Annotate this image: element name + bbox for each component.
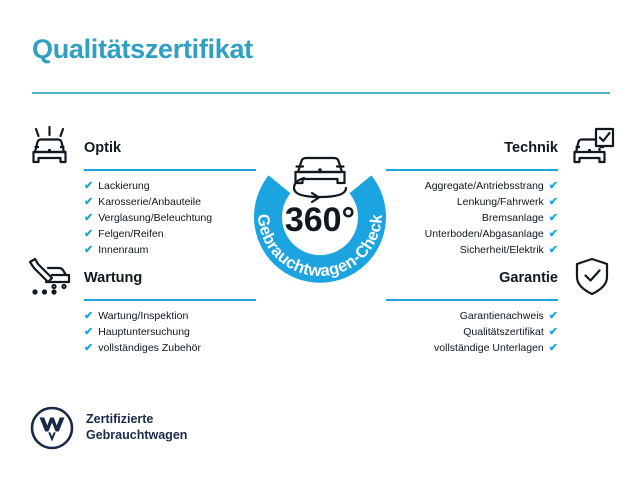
check-icon: ✔ [84, 327, 93, 338]
list-item-label: Hauptuntersuchung [98, 327, 190, 338]
badge-center-label: 360° [285, 201, 355, 239]
check-icon: ✔ [549, 213, 558, 224]
check-icon: ✔ [549, 197, 558, 208]
footer-brand: Zertifizierte Gebrauchtwagen [30, 406, 187, 450]
list-item-label: vollständige Unterlagen [434, 343, 544, 354]
list-item: ✔Felgen/Reifen [26, 226, 256, 242]
section-garantie-header: Garantie [386, 256, 616, 302]
check-icon: ✔ [84, 213, 93, 224]
section-optik-list: ✔Lackierung ✔Karosserie/Anbauteile ✔Verg… [26, 178, 256, 258]
list-item-label: Wartung/Inspektion [98, 311, 188, 322]
section-garantie-underline [386, 299, 558, 301]
list-item-label: Felgen/Reifen [98, 229, 163, 240]
section-wartung-title: Wartung [84, 270, 142, 286]
list-item: ✔vollständiges Zubehör [26, 340, 256, 356]
list-item: vollständige Unterlagen✔ [386, 340, 616, 356]
section-garantie-title: Garantie [499, 270, 558, 286]
section-technik-underline [386, 169, 558, 171]
section-technik-header: Technik [386, 126, 616, 172]
list-item: ✔Lackierung [26, 178, 256, 194]
list-item: ✔Verglasung/Beleuchtung [26, 210, 256, 226]
list-item: Bremsanlage✔ [386, 210, 616, 226]
section-optik-title: Optik [84, 140, 121, 156]
car-rotate-360-icon [294, 158, 346, 202]
section-garantie-list: Garantienachweis✔ Qualitätszertifikat✔ v… [386, 308, 616, 356]
section-wartung-list: ✔Wartung/Inspektion ✔Hauptuntersuchung ✔… [26, 308, 256, 356]
car-shine-icon [26, 126, 74, 170]
badge-360-gebrauchtwagen-check: Gebrauchtwagen-Check 360° [236, 130, 404, 298]
list-item-label: Verglasung/Beleuchtung [98, 213, 212, 224]
section-wartung: Wartung ✔Wartung/Inspektion ✔Hauptunters… [26, 256, 256, 356]
section-optik: Optik ✔Lackierung ✔Karosserie/Anbauteile… [26, 126, 256, 258]
volkswagen-logo [30, 406, 74, 450]
list-item: Qualitätszertifikat✔ [386, 324, 616, 340]
section-wartung-header: Wartung [26, 256, 256, 302]
check-icon: ✔ [549, 181, 558, 192]
footer-line-1: Zertifizierte [86, 412, 187, 428]
check-icon: ✔ [549, 229, 558, 240]
list-item: Unterboden/Abgasanlage✔ [386, 226, 616, 242]
section-garantie: Garantie Garantienachweis✔ Qualitätszert… [386, 256, 616, 356]
list-item-label: Qualitätszertifikat [463, 327, 544, 338]
list-item-label: Unterboden/Abgasanlage [425, 229, 544, 240]
footer-text: Zertifizierte Gebrauchtwagen [86, 412, 187, 443]
check-icon: ✔ [84, 343, 93, 354]
list-item-label: Aggregate/Antriebsstrang [425, 181, 544, 192]
list-item-label: Lackierung [98, 181, 149, 192]
page-title: Qualitätszertifikat [32, 34, 253, 65]
section-technik-title: Technik [504, 140, 558, 156]
certificate-page: Qualitätszertifikat [0, 0, 640, 480]
check-icon: ✔ [84, 197, 93, 208]
wrench-car-icon [26, 256, 74, 300]
list-item-label: Karosserie/Anbauteile [98, 197, 201, 208]
check-icon: ✔ [84, 229, 93, 240]
list-item: ✔Wartung/Inspektion [26, 308, 256, 324]
section-optik-underline [84, 169, 256, 171]
list-item-label: Lenkung/Fahrwerk [457, 197, 544, 208]
section-technik: Technik Aggregate/Antriebsstrang✔ Lenkun… [386, 126, 616, 258]
section-technik-list: Aggregate/Antriebsstrang✔ Lenkung/Fahrwe… [386, 178, 616, 258]
section-wartung-underline [84, 299, 256, 301]
section-optik-header: Optik [26, 126, 256, 172]
list-item: Lenkung/Fahrwerk✔ [386, 194, 616, 210]
list-item-label: Bremsanlage [482, 213, 544, 224]
list-item: ✔Hauptuntersuchung [26, 324, 256, 340]
list-item: Garantienachweis✔ [386, 308, 616, 324]
check-icon: ✔ [549, 311, 558, 322]
check-icon: ✔ [84, 311, 93, 322]
title-divider [32, 92, 610, 94]
list-item-label: vollständiges Zubehör [98, 343, 201, 354]
check-icon: ✔ [549, 327, 558, 338]
list-item-label: Garantienachweis [460, 311, 544, 322]
list-item: ✔Karosserie/Anbauteile [26, 194, 256, 210]
check-icon: ✔ [549, 343, 558, 354]
check-icon: ✔ [84, 245, 93, 256]
list-item: Aggregate/Antriebsstrang✔ [386, 178, 616, 194]
check-icon: ✔ [549, 245, 558, 256]
list-item-label: Sicherheit/Elektrik [460, 245, 544, 256]
shield-check-icon [568, 256, 616, 300]
car-checkbox-icon [568, 126, 616, 170]
check-icon: ✔ [84, 181, 93, 192]
list-item-label: Innenraum [98, 245, 148, 256]
footer-line-2: Gebrauchtwagen [86, 428, 187, 444]
